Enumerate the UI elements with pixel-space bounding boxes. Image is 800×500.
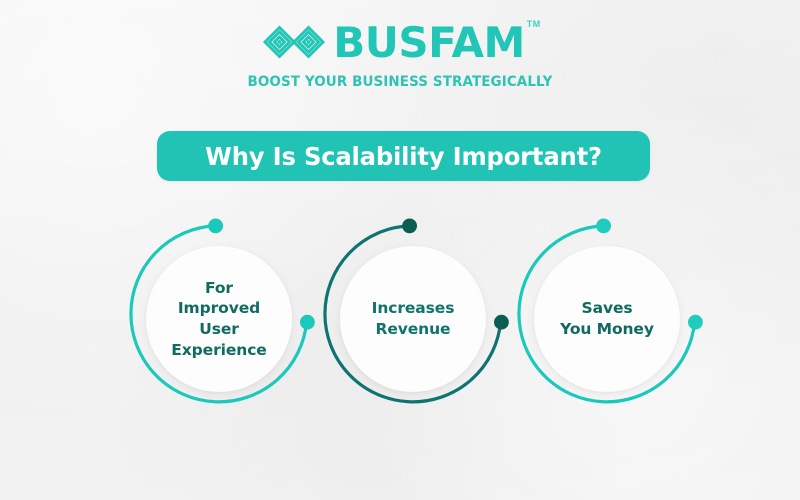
benefit-item-increases-revenue: Increases Revenue xyxy=(314,204,530,424)
arc-dot-start-2 xyxy=(402,219,417,234)
logo-row: BUSFAM TM xyxy=(261,14,539,70)
benefit-label-3: Saves You Money xyxy=(554,298,660,339)
benefit-disc-2: Increases Revenue xyxy=(340,246,486,392)
benefit-item-improved-user-experience: For Improved User Experience xyxy=(120,204,336,424)
arc-dot-start-3 xyxy=(596,219,611,234)
benefit-label-2: Increases Revenue xyxy=(366,298,461,339)
benefits-row: For Improved User Experience Increases R… xyxy=(0,204,800,424)
page-title-banner: Why Is Scalability Important? xyxy=(157,131,650,181)
brand-wordmark: BUSFAM xyxy=(333,22,525,64)
busfam-logo-icon xyxy=(261,17,327,67)
arc-dot-end-2 xyxy=(494,315,509,330)
trademark-symbol: TM xyxy=(527,19,541,29)
arc-dot-end-1 xyxy=(300,315,315,330)
benefit-label-1: For Improved User Experience xyxy=(165,278,272,360)
brand-tagline: BOOST YOUR BUSINESS STRATEGICALLY xyxy=(247,74,552,90)
arc-dot-start-1 xyxy=(208,219,223,234)
benefit-disc-1: For Improved User Experience xyxy=(146,246,292,392)
page-title: Why Is Scalability Important? xyxy=(205,142,602,171)
brand-header: BUSFAM TM BOOST YOUR BUSINESS STRATEGICA… xyxy=(0,14,800,98)
benefit-disc-3: Saves You Money xyxy=(534,246,680,392)
arc-dot-end-3 xyxy=(688,315,703,330)
infographic-canvas: BUSFAM TM BOOST YOUR BUSINESS STRATEGICA… xyxy=(0,0,800,500)
benefit-item-saves-you-money: Saves You Money xyxy=(508,204,724,424)
